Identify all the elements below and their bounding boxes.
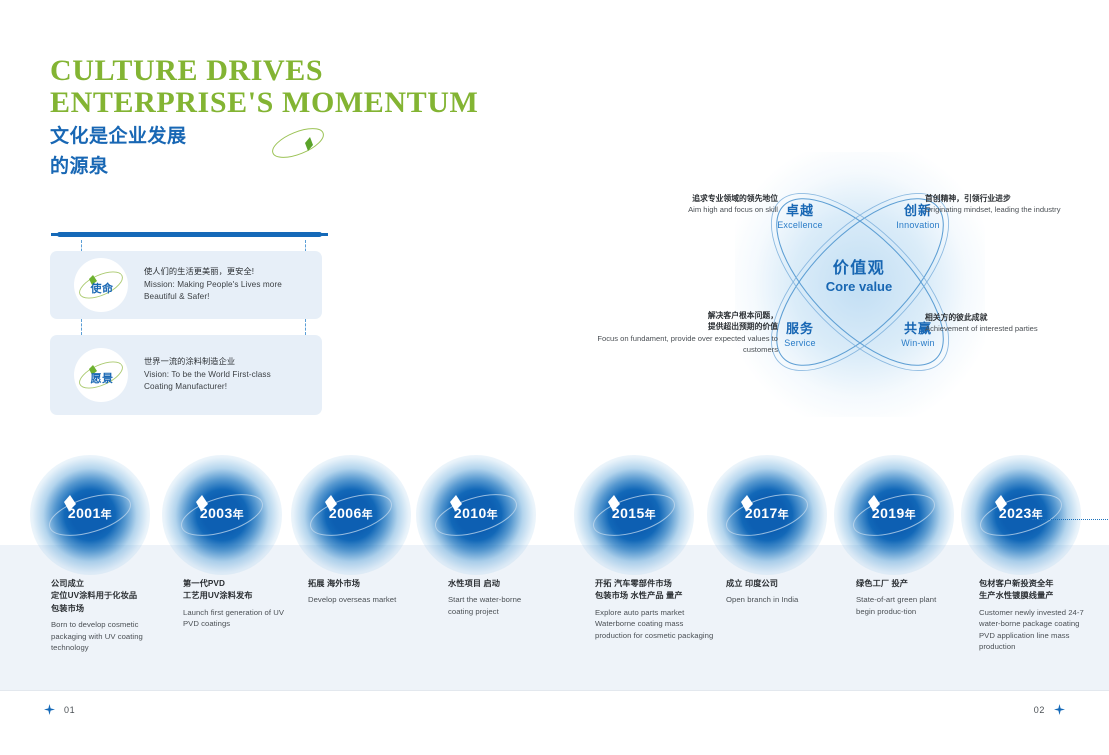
footer-divider — [0, 690, 1109, 691]
timeline-event-2017: 成立 印度公司Open branch in India — [726, 578, 836, 606]
callout-top-left: 追求专业领域的领先地位 Aim high and focus on skill — [618, 193, 778, 216]
timeline-event-2001: 公司成立定位UV涂料用于化妆品包装市场Born to develop cosme… — [51, 578, 171, 653]
mission-badge-label: 使命 — [91, 280, 114, 296]
sparkle-icon — [44, 704, 55, 715]
timeline-node-2010[interactable]: 2010年 — [416, 455, 536, 575]
page-header: CULTURE DRIVES ENTERPRISE'S MOMENTUM 文化是… — [50, 55, 478, 179]
node-year-suffix: 年 — [645, 509, 656, 521]
event-desc-en: Launch first generation of UV PVD coatin… — [183, 607, 293, 630]
callout-top-right: 首创精神，引领行业进步 Originating mindset, leading… — [925, 193, 1065, 216]
event-title-cn: 成立 印度公司 — [726, 578, 836, 590]
vision-line-3: Coating Manufacturer! — [144, 381, 271, 394]
mission-card[interactable]: 使命 使人们的生活更美丽，更安全! Mission: Making People… — [50, 251, 322, 319]
core-value-en: Core value — [792, 279, 926, 294]
venn-winwin-en: Win-win — [883, 338, 953, 348]
mission-line-3: Beautiful & Safer! — [144, 291, 282, 304]
timeline-event-2010: 水性项目 启动Start the water-borne coating pro… — [448, 578, 548, 617]
callout-bottom-left: 解决客户根本问题， 提供超出预期的价值 Focus on fundament, … — [578, 310, 778, 356]
vision-badge-label: 愿景 — [91, 370, 114, 386]
mission-line-2: Mission: Making People's Lives more — [144, 279, 282, 292]
subtitle-line-2: 的源泉 — [50, 155, 478, 179]
title-line-2: ENTERPRISE'S MOMENTUM — [50, 87, 478, 119]
node-year: 2015年 — [574, 505, 694, 522]
node-year-suffix: 年 — [101, 509, 112, 521]
node-year: 2019年 — [834, 505, 954, 522]
event-desc-en: State-of-art green plant begin produc-ti… — [856, 594, 956, 617]
timeline-node-2006[interactable]: 2006年 — [291, 455, 411, 575]
vision-line-1: 世界一流的涂料制造企业 — [144, 356, 271, 369]
title-line-1: CULTURE DRIVES — [50, 55, 478, 87]
event-desc-en: Open branch in India — [726, 594, 836, 605]
footer-left: 01 — [44, 704, 75, 715]
core-value-cn: 价值观 — [792, 254, 926, 278]
event-title-cn: 第一代PVD工艺用UV涂料发布 — [183, 578, 293, 603]
node-year-suffix: 年 — [905, 509, 916, 521]
node-year: 2017年 — [707, 505, 827, 522]
event-title-cn: 拓展 海外市场 — [308, 578, 418, 590]
node-year-suffix: 年 — [487, 509, 498, 521]
event-title-cn: 水性项目 启动 — [448, 578, 548, 590]
timeline-node-2017[interactable]: 2017年 — [707, 455, 827, 575]
section-divider-bar — [57, 232, 322, 238]
timeline-node-2023[interactable]: 2023年 — [961, 455, 1081, 575]
node-year: 2001年 — [30, 505, 150, 522]
vision-card[interactable]: 愿景 世界一流的涂料制造企业 Vision: To be the World F… — [50, 335, 322, 415]
event-title-cn: 绿色工厂 投产 — [856, 578, 956, 590]
footer-right: 02 — [1034, 704, 1065, 715]
timeline-event-2006: 拓展 海外市场Develop overseas market — [308, 578, 418, 606]
event-desc-en: Born to develop cosmetic packaging with … — [51, 619, 171, 653]
core-value-diagram: 卓越 Excellence 创新 Innovation 服务 Service 共… — [640, 160, 1080, 410]
event-title-cn: 包材客户新投资全年生产水性镀膜线量产 — [979, 578, 1094, 603]
node-year: 2010年 — [416, 505, 536, 522]
sparkle-icon — [1054, 704, 1065, 715]
mission-text: 使人们的生活更美丽，更安全! Mission: Making People's … — [144, 266, 282, 304]
event-desc-en: Develop overseas market — [308, 594, 418, 605]
timeline-event-2019: 绿色工厂 投产State-of-art green plant begin pr… — [856, 578, 956, 617]
event-desc-en: Customer newly invested 24-7 water-borne… — [979, 607, 1094, 653]
node-year-suffix: 年 — [233, 509, 244, 521]
venn-innovation-en: Innovation — [883, 220, 953, 230]
timeline-node-2001[interactable]: 2001年 — [30, 455, 150, 575]
vision-line-2: Vision: To be the World First-class — [144, 369, 271, 382]
node-year: 2006年 — [291, 505, 411, 522]
mission-line-1: 使人们的生活更美丽，更安全! — [144, 266, 282, 279]
mission-badge: 使命 — [74, 258, 128, 312]
timeline-node-2003[interactable]: 2003年 — [162, 455, 282, 575]
event-title-cn: 公司成立定位UV涂料用于化妆品包装市场 — [51, 578, 171, 615]
dashed-connector — [305, 319, 306, 335]
node-year: 2003年 — [162, 505, 282, 522]
callout-bottom-right: 相关方的彼此成就 Achievement of interested parti… — [925, 312, 1075, 335]
vision-text: 世界一流的涂料制造企业 Vision: To be the World Firs… — [144, 356, 271, 394]
dashed-connector — [81, 319, 82, 335]
event-title-cn: 开拓 汽车零部件市场包装市场 水性产品 量产 — [595, 578, 715, 603]
timeline-event-2015: 开拓 汽车零部件市场包装市场 水性产品 量产Explore auto parts… — [595, 578, 715, 641]
venn-center-label: 价值观 Core value — [792, 254, 926, 294]
event-desc-en: Start the water-borne coating project — [448, 594, 548, 617]
timeline-event-2023: 包材客户新投资全年生产水性镀膜线量产Customer newly investe… — [979, 578, 1094, 652]
subtitle-line-1: 文化是企业发展 — [50, 125, 478, 149]
vision-badge: 愿景 — [74, 348, 128, 402]
node-year-suffix: 年 — [778, 509, 789, 521]
event-desc-en: Explore auto parts market Waterborne coa… — [595, 607, 715, 641]
timeline-node-2019[interactable]: 2019年 — [834, 455, 954, 575]
page-number-left: 01 — [64, 705, 75, 715]
timeline-node-2015[interactable]: 2015年 — [574, 455, 694, 575]
timeline-dotted-tail — [1032, 519, 1108, 520]
venn-excellence-en: Excellence — [765, 220, 835, 230]
node-year-suffix: 年 — [362, 509, 373, 521]
timeline: 2001年2003年2006年2010年2015年2017年2019年2023年 — [0, 455, 1109, 575]
page-number-right: 02 — [1034, 705, 1045, 715]
timeline-event-2003: 第一代PVD工艺用UV涂料发布Launch first generation o… — [183, 578, 293, 630]
page-root: CULTURE DRIVES ENTERPRISE'S MOMENTUM 文化是… — [0, 0, 1109, 755]
